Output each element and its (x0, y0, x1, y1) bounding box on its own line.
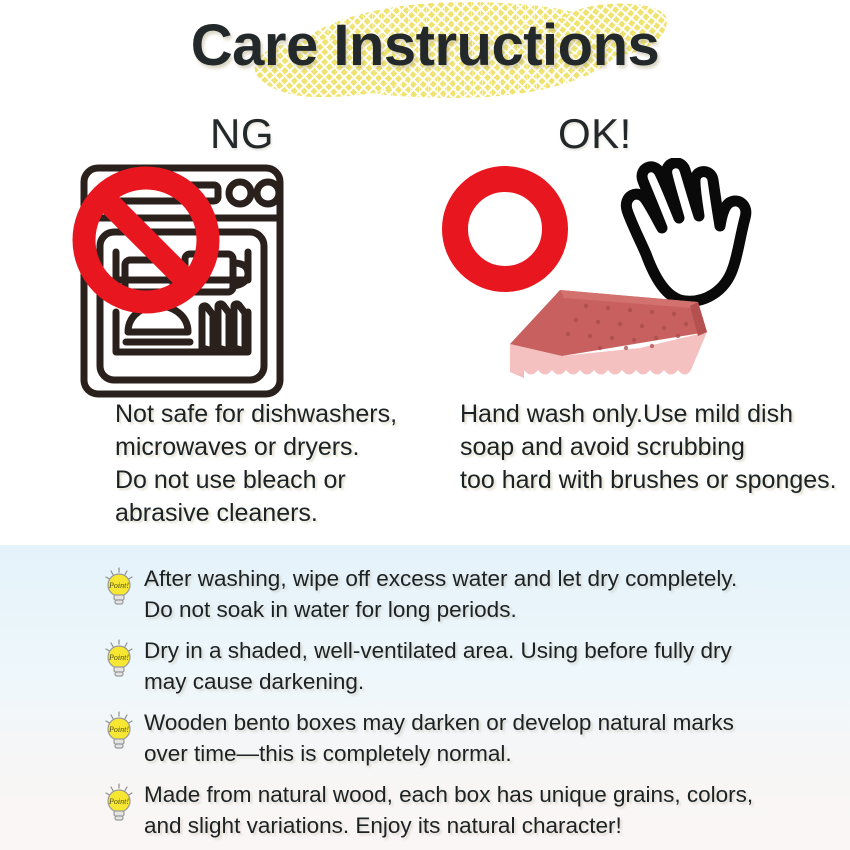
lightbulb-icon: Point! (102, 639, 136, 679)
panel-ng: NG (60, 110, 440, 545)
page-title: Care Instructions (0, 12, 850, 79)
lightbulb-icon: Point! (102, 711, 136, 751)
panel-ok-copy: Hand wash only.Use mild dish soap and av… (460, 398, 850, 497)
panel-ng-copy: Not safe for dishwashers, microwaves or … (115, 398, 445, 530)
panel-ok-icon-stage (440, 138, 850, 408)
page-header: Care Instructions (0, 0, 850, 110)
tip-text: Wooden bento boxes may darken or develop… (100, 707, 734, 769)
tip-item: Point! Made from natural wood, each box … (0, 779, 850, 841)
tip-text: After washing, wipe off excess water and… (100, 563, 737, 625)
panel-ng-icon-stage (60, 138, 440, 408)
bulb-label: Point! (108, 725, 129, 734)
tip-text: Made from natural wood, each box has uni… (100, 779, 753, 841)
ok-circle-icon (442, 166, 568, 292)
prohibition-icon (68, 162, 224, 318)
hand-icon (616, 158, 756, 306)
panel-ok: OK! (440, 110, 850, 545)
tip-item: Point! Wooden bento boxes may darken or … (0, 707, 850, 769)
lightbulb-icon: Point! (102, 783, 136, 823)
tip-item: Point! After washing, wipe off excess wa… (0, 563, 850, 625)
tip-item: Point! Dry in a shaded, well-ventilated … (0, 635, 850, 697)
bulb-label: Point! (108, 581, 129, 590)
sponge-icon (502, 286, 732, 398)
lightbulb-icon: Point! (102, 567, 136, 607)
bulb-label: Point! (108, 653, 129, 662)
tip-text: Dry in a shaded, well-ventilated area. U… (100, 635, 732, 697)
tips-section: Point! After washing, wipe off excess wa… (0, 545, 850, 850)
care-instructions-page: Care Instructions NG (0, 0, 850, 850)
instruction-panels: NG (0, 110, 850, 545)
bulb-label: Point! (108, 797, 129, 806)
